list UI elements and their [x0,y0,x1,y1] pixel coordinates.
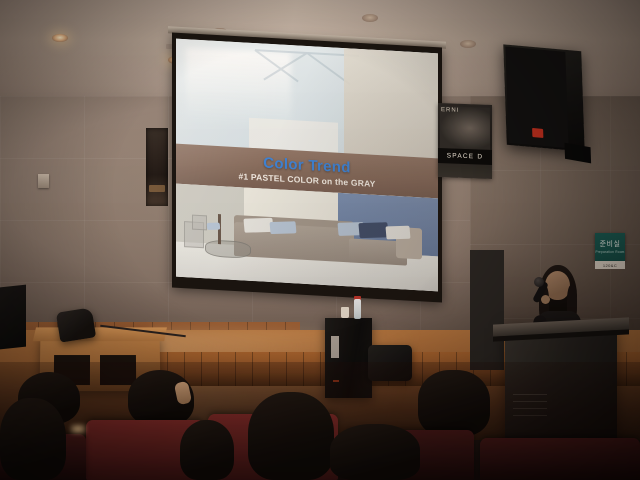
screen-surface: Color Trend #1 PASTEL COLOR on the GRAY [176,39,438,292]
room-sign-code-plate: 120&C [595,261,625,269]
floor-speaker [0,285,26,350]
ceiling-downlight [362,14,378,22]
presenter-hand [541,295,550,304]
lecture-hall-photo: Color Trend #1 PASTEL COLOR on the GRAY [0,0,640,480]
room-sign-code: 120&C [603,263,617,268]
wall-alcove [146,128,168,206]
slide-bottom-photo [176,184,438,291]
slide-vase [192,214,207,230]
microphone-head [534,277,544,287]
poster-caption-text: SPACE D [447,152,483,160]
audience-head [330,424,420,480]
audience-head [180,420,234,480]
screen-glow [70,424,86,434]
slide-decor-accent [207,223,221,231]
stage-table-top [33,327,167,341]
room-sign-korean: 준비실 [600,241,621,248]
presentation-slide: Color Trend #1 PASTEL COLOR on the GRAY [176,39,438,292]
paper-cup [341,307,349,318]
slide-pillow-white [385,226,410,240]
ceiling-downlight [460,40,476,48]
poster-brand-text: ERNI [441,107,459,114]
speaker-brand-badge [532,128,543,138]
wall-fixture [38,174,49,188]
audience-head [248,392,334,480]
ceiling-vent [56,70,68,75]
ceiling-downlight [52,34,68,42]
case-label [331,336,339,358]
bag-on-table [56,307,96,342]
wall-poster: ERNI SPACE D [438,103,492,179]
auditorium-seat [480,438,640,480]
podium-side-wall [470,250,504,370]
slide-wall-texture [344,48,438,158]
slide-subtitle: #1 PASTEL COLOR on the GRAY [238,172,375,188]
water-bottle [354,299,361,319]
alcove-object [149,185,165,192]
wall-mounted-speaker [503,44,584,151]
slide-pillow-lightblue [270,221,297,234]
room-sign: 준비실 Preparation Room [595,233,625,261]
projection-screen: Color Trend #1 PASTEL COLOR on the GRAY [172,32,442,302]
poster-caption-band: SPACE D [438,148,492,165]
slide-pillow-navy [359,222,389,238]
audience-head [0,398,66,480]
slide-title: Color Trend [263,155,350,175]
room-sign-english: Preparation Room [595,250,624,254]
slide-top-photo [176,39,438,158]
audience-head [418,370,490,436]
